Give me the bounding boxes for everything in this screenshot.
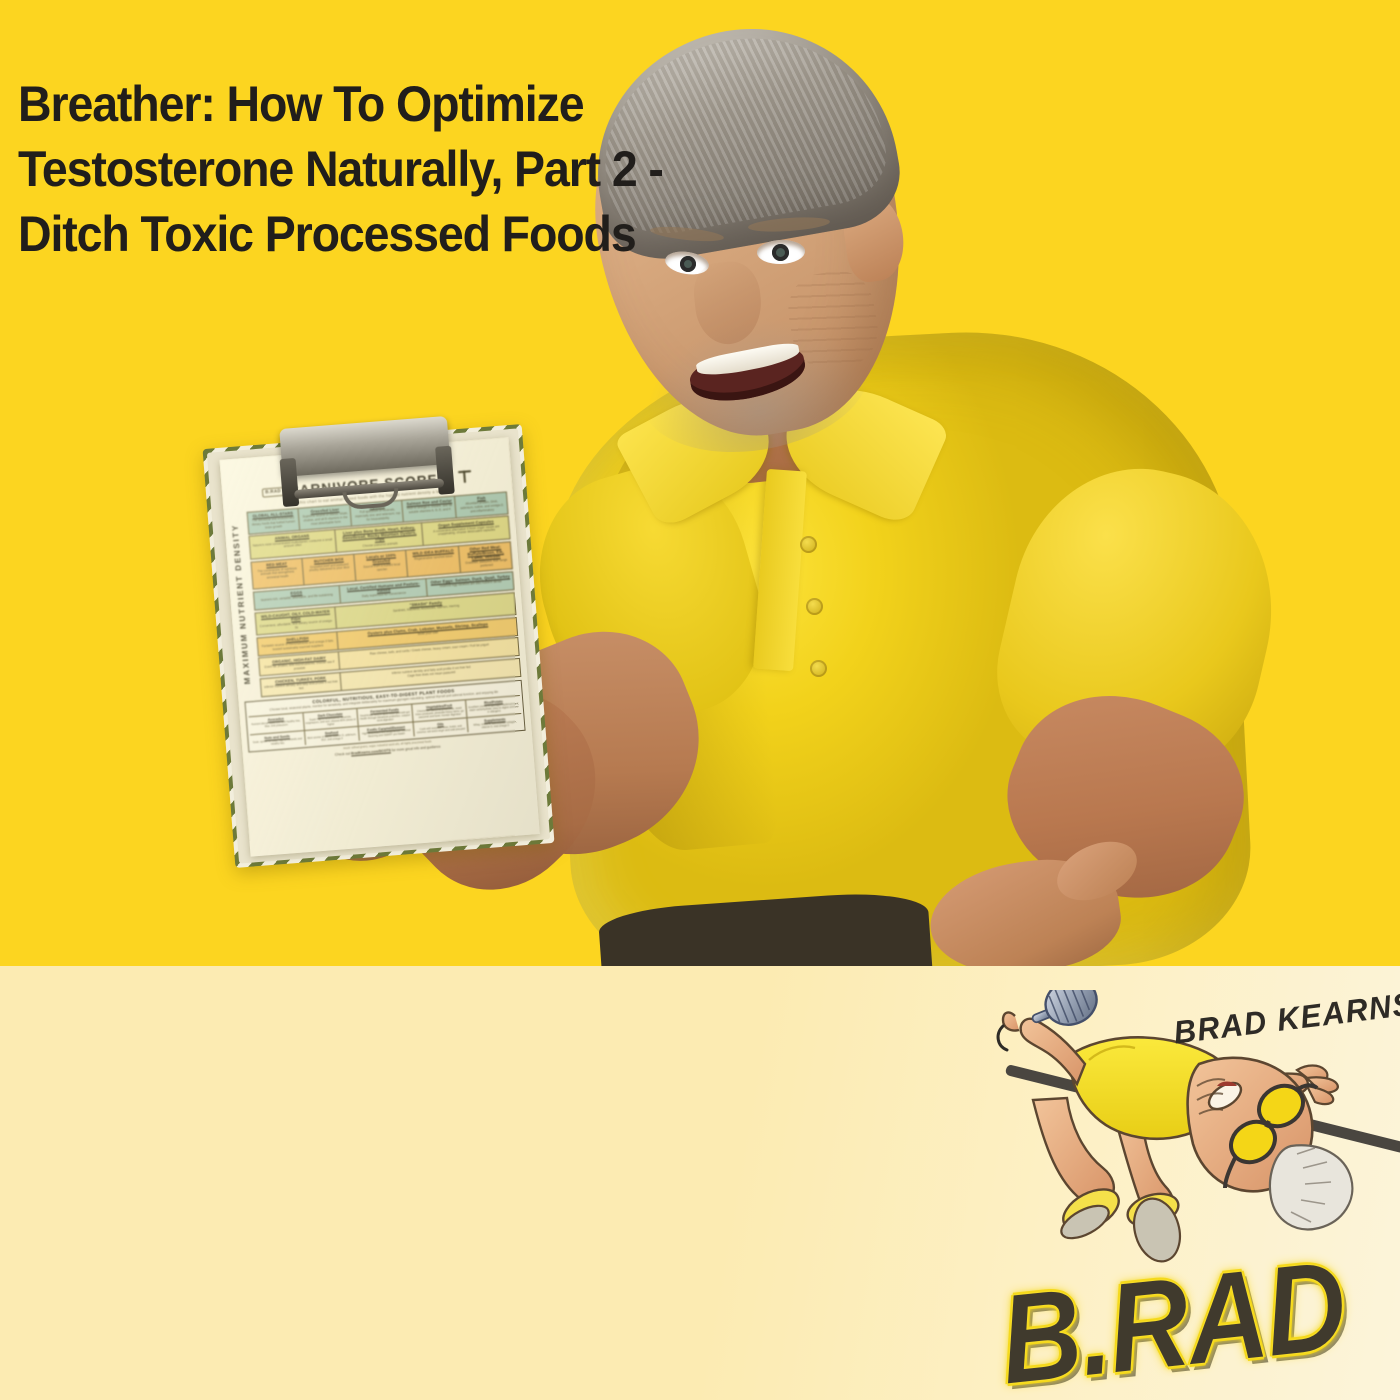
- table-cell: Salmon Roe and Caviar Rich in omega-3, c…: [404, 497, 456, 521]
- scores-grid: GLOBAL ALL-STARS The ancestral and evolu…: [247, 491, 522, 697]
- jumper-hand-mic: [1003, 1013, 1019, 1031]
- microphone-cord: [998, 1026, 1007, 1050]
- fork-icon: [458, 469, 472, 485]
- table-cell: WILD-CAUGHT, OILY, COLD-WATER FISH Conve…: [256, 607, 338, 635]
- cta-prefix: Check out: [335, 751, 351, 756]
- shirt-button: [800, 536, 817, 553]
- table-cell: Organ Supplement Capsules A convenient a…: [423, 517, 509, 546]
- episode-title-line-1: Breather: How To Optimize: [18, 72, 883, 137]
- cell-desc: The cornerstone of nutritious animals th…: [254, 566, 300, 580]
- table-cell: Fish Abundant protein, DHA, selenium, io…: [456, 493, 507, 517]
- sheet-body: MAXIMUM NUTRIENT DENSITY GLOBAL ALL-STAR…: [230, 491, 522, 698]
- table-cell: Seafood Best source of iodine, vitamin D…: [305, 727, 361, 745]
- table-cell: Supplements Whey, creatine, electrolytes…: [468, 714, 523, 732]
- episode-title-line-2: Testosterone Naturally, Part 2 -: [18, 137, 883, 202]
- cell-desc: Rich in omega-3, choline, and fat solubl…: [407, 504, 453, 515]
- table-cell: BUTCHER BOX Grassfed beef and pastured p…: [304, 555, 357, 585]
- episode-title: Breather: How To Optimize Testosterone N…: [18, 72, 883, 267]
- table-cell: RED MEAT The cornerstone of nutritious a…: [252, 559, 305, 589]
- cell-desc: Source from a trusted local rancher: [359, 563, 405, 574]
- cell-desc: The ancestral and evolutionary dietary f…: [250, 517, 296, 531]
- cell-desc: Grassfed beef and pastured poultry deliv…: [306, 562, 352, 573]
- clipboard: B.RAD CARNIVORE SCORES! Follow this char…: [201, 410, 554, 869]
- cell-desc: Abundant protein, DHA, selenium, iodine,…: [459, 500, 505, 514]
- table-cell: Oils Cook with avocado, olive, butter, a…: [413, 718, 469, 736]
- table-cell: Grassfed Liver Supreme source of retinol…: [300, 505, 352, 529]
- podcast-cover: B.RAD CARNIVORE SCORES! Follow this char…: [0, 0, 1400, 1400]
- cell-desc: Grassfed, pastured, free range preferred: [463, 559, 509, 570]
- table-cell: Exotic Caramel/Dessert High antioxidant …: [359, 722, 415, 740]
- cell-desc: Supreme source of retinol, folate, choli…: [302, 512, 348, 526]
- table-cell: Nuts and Seeds Soak, sprout, or roast; h…: [250, 731, 306, 749]
- jumper-beard: [1270, 1145, 1352, 1229]
- table-cell: Other Red Meat: Buffalo/Bison, Elk, Lamb…: [460, 542, 512, 572]
- table-cell: Liver plus Bone Broth, Heart, Kidney, Sw…: [336, 523, 423, 552]
- jumper-shoe-left: [1056, 1181, 1125, 1245]
- cell-desc: Full spectrum of minerals, especially zi…: [355, 508, 401, 522]
- shirt-button: [810, 660, 827, 677]
- table-cell: CHICKEN, TURKEY, PORK Inferior nutrient …: [261, 673, 342, 696]
- shirt-button: [806, 598, 823, 615]
- table-cell: Locals or 100% Grassfed Source from a tr…: [356, 551, 409, 581]
- table-cell: ANIMAL ORGANS Nature's most concentrated…: [250, 530, 337, 559]
- table-cell: GLOBAL ALL-STARS The ancestral and evolu…: [248, 509, 300, 533]
- table-cell: WILD IDEA BUFFALO Regenerative ranched b…: [408, 546, 461, 576]
- episode-title-line-3: Ditch Toxic Processed Foods: [18, 202, 883, 267]
